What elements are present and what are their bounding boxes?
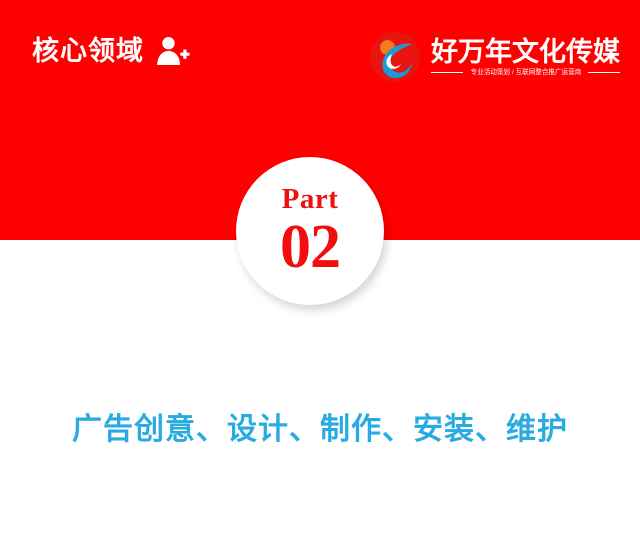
section-title-group: 核心领域 <box>32 36 190 66</box>
logo-tagline: 专业活动策划 / 互联网整合推广运营商 <box>470 69 581 76</box>
page-title: 核心领域 <box>32 38 144 65</box>
part-badge: Part 02 <box>236 157 384 305</box>
logo-company-name: 好万年文化传媒 <box>431 38 620 66</box>
slide-canvas: 核心领域 好万年文化传媒 专业活动策划 / 互联网整合推广运营商 <box>0 0 640 546</box>
brand-logo: 好万年文化传媒 专业活动策划 / 互联网整合推广运营商 <box>368 30 620 84</box>
part-number: 02 <box>280 216 340 278</box>
section-headline: 广告创意、设计、制作、安装、维护 <box>0 412 640 448</box>
tagline-rule-left <box>431 72 463 73</box>
logo-text-column: 好万年文化传媒 专业活动策划 / 互联网整合推广运营商 <box>431 38 620 76</box>
person-add-icon <box>156 36 190 66</box>
logo-tagline-row: 专业活动策划 / 互联网整合推广运营商 <box>431 69 620 76</box>
swirl-wave-emblem-icon <box>368 30 422 84</box>
tagline-rule-right <box>588 72 620 73</box>
part-label: Part <box>282 185 339 214</box>
